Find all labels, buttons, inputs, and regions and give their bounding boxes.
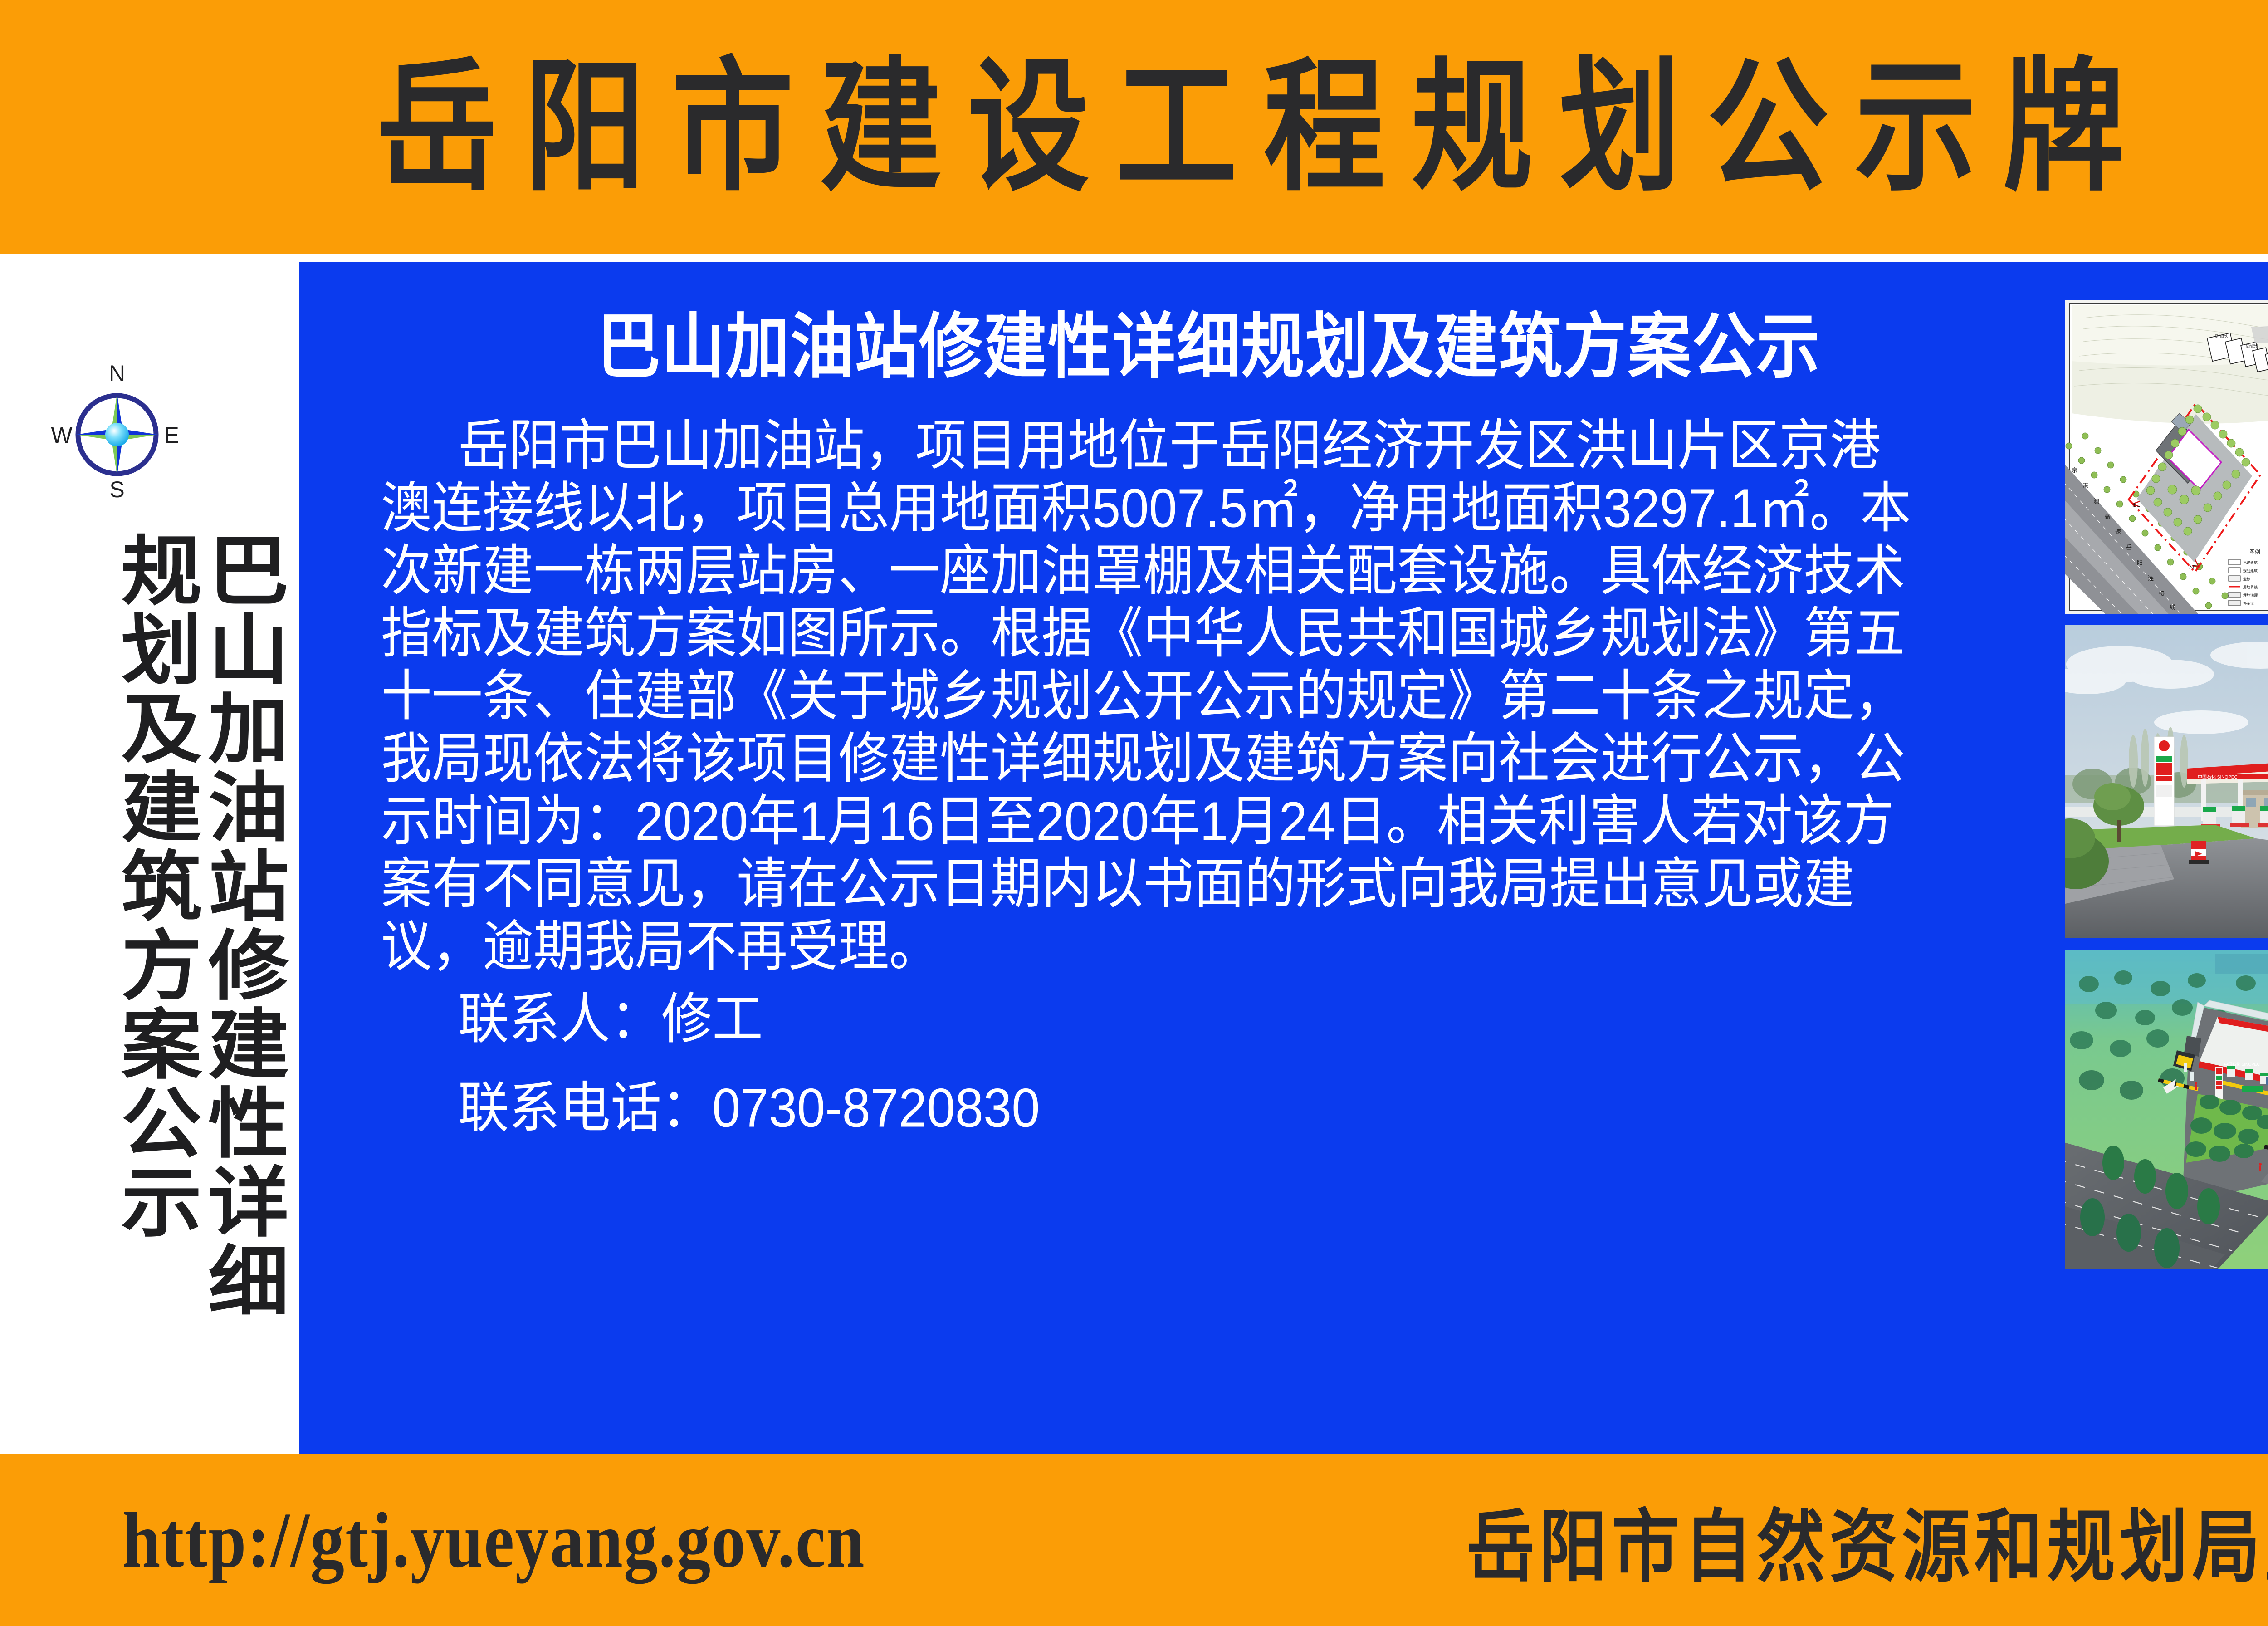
svg-text:W: W (51, 422, 73, 448)
header-band: 岳阳市建设工程规划公示牌 (0, 0, 2268, 254)
svg-text:S: S (109, 477, 124, 499)
contact-person: 联系人：修工 (381, 985, 1960, 1053)
footer-organization: 岳阳市自然资源和规划局监制 (1466, 1483, 2268, 1597)
svg-text:入口: 入口 (2189, 565, 2197, 569)
svg-text:N: N (109, 363, 125, 386)
body-line: 案有不同意见，请在公示日期内以书面的形式向我局提出意见或建 (381, 850, 1960, 918)
footer-website-url[interactable]: http://gtj.yueyang.gov.cn (122, 1495, 865, 1586)
body-line: 我局现依法将该项目修建性详细规划及建筑方案向社会进行公示，公 (381, 725, 1960, 793)
body-line: 次新建一栋两层站房、一座加油罩棚及相关配套设施。具体经济技术 (381, 537, 1960, 605)
svg-text:中国石化 SINOPEC: 中国石化 SINOPEC (2198, 774, 2238, 780)
svg-text:线: 线 (2170, 604, 2175, 611)
svg-text:用地界线: 用地界线 (2243, 585, 2258, 589)
street-level-rendering-image[interactable]: 中国石化 SINOPEC (2065, 625, 2268, 938)
notice-body: 岳阳市巴山加油站，项目用地位于岳阳经济开发区洪山片区京港 澳连接线以北，项目总用… (381, 412, 1960, 975)
svg-text:原有建筑: 原有建筑 (2246, 344, 2258, 348)
body-line: 十一条、住建部《关于城乡规划公开公示的规定》第二十条之规定， (381, 662, 1960, 730)
main-panel: 巴山加油站修建性详细规划及建筑方案公示 岳阳市巴山加油站，项目用地位于岳阳经济开… (299, 262, 2268, 1454)
svg-text:澳: 澳 (2093, 498, 2099, 504)
body-line: 议，逾期我局不再受理。 (381, 913, 1960, 980)
sidebar-vertical-col-left: 规划及建筑方案公示 (112, 531, 196, 1320)
contact-phone: 联系电话：0730-8720830 (381, 1074, 1960, 1142)
footer-band: http://gtj.yueyang.gov.cn 岳阳市自然资源和规划局监制 (0, 1454, 2268, 1626)
svg-text:图例: 图例 (2249, 549, 2260, 555)
image-column: 京港澳 高速岳 阳连接 线 N (2065, 300, 2268, 1269)
svg-text:停车位: 停车位 (2243, 601, 2254, 606)
svg-text:规划建筑: 规划建筑 (2243, 568, 2258, 573)
svg-text:港: 港 (2082, 482, 2088, 489)
svg-text:已建建筑: 已建建筑 (2243, 560, 2258, 565)
header-divider (0, 254, 2268, 262)
body-line: 示时间为：2020年1月16日至2020年1月24日。相关利害人若对该方 (381, 788, 1960, 855)
contact-block: 联系人：修工 联系电话：0730-8720830 (381, 985, 1960, 1137)
body-line: 指标及建筑方案如图所示。根据《中华人民共和国城乡规划法》第五 (381, 600, 1960, 667)
svg-text:接: 接 (2159, 590, 2165, 597)
aerial-rendering-image[interactable]: 中国石化 SINOPEC (2065, 950, 2268, 1269)
svg-text:连: 连 (2148, 575, 2154, 582)
svg-text:高: 高 (2104, 513, 2110, 520)
sidebar-vertical-title: 巴山加油站修建性详细 规划及建筑方案公示 (18, 531, 281, 1320)
sidebar: N S E W 巴山加油站修建性详细 规划及建筑方案公示 (0, 254, 299, 1454)
svg-text:阳: 阳 (2137, 559, 2143, 566)
body-line: 澳连接线以北，项目总用地面积5007.5㎡，净用地面积3297.1㎡。本 (381, 475, 1960, 542)
svg-text:E: E (164, 422, 179, 448)
svg-text:原有建筑: 原有建筑 (2215, 334, 2228, 338)
compass-rose-icon: N S E W (35, 363, 199, 499)
svg-text:京: 京 (2072, 467, 2077, 474)
site-plan-image[interactable]: 京港澳 高速岳 阳连接 线 N (2065, 300, 2268, 614)
notice-title: 巴山加油站修建性详细规划及建筑方案公示 (299, 289, 2118, 392)
svg-text:速: 速 (2115, 529, 2121, 535)
page-title: 岳阳市建设工程规划公示牌 (350, 55, 2151, 199)
body-line: 岳阳市巴山加油站，项目用地位于岳阳经济开发区洪山片区京港 (381, 412, 1960, 480)
svg-text:埋地油罐: 埋地油罐 (2243, 593, 2258, 598)
sidebar-vertical-col-right: 巴山加油站修建性详细 (200, 531, 283, 1320)
svg-text:坐标: 坐标 (2243, 577, 2250, 581)
svg-text:岳: 岳 (2126, 544, 2132, 551)
svg-text:出口: 出口 (2132, 503, 2141, 508)
